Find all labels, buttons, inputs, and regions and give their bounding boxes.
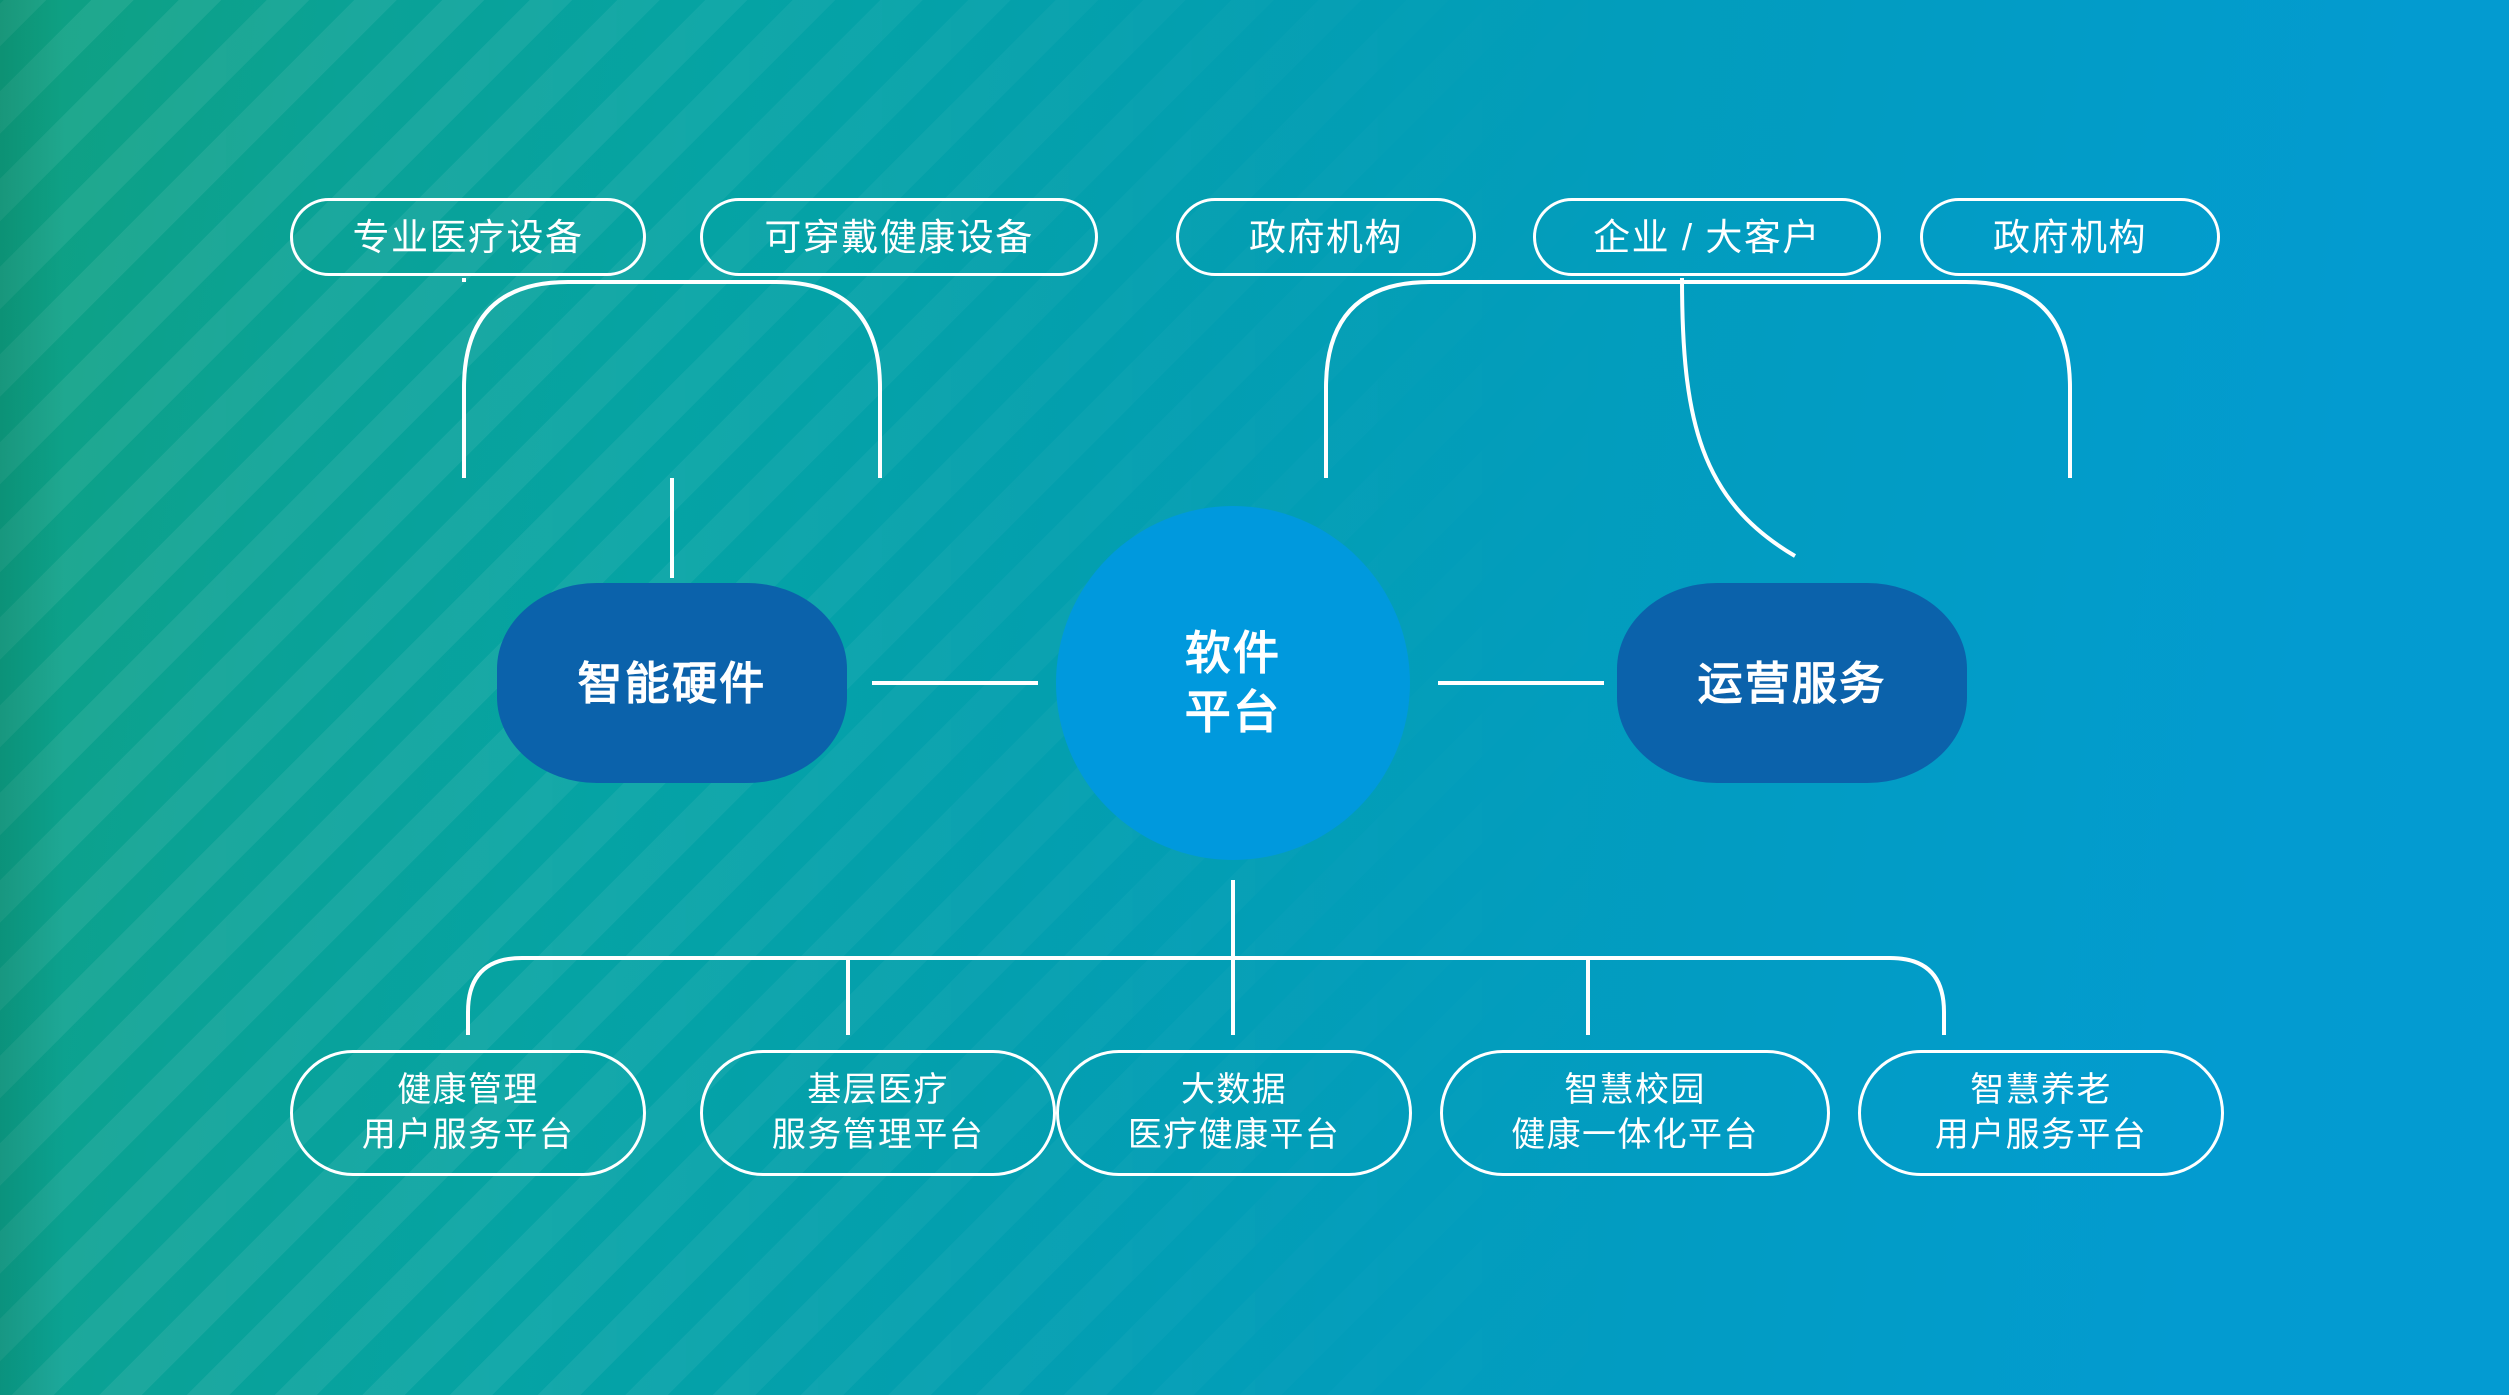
diagram-canvas: 专业医疗设备 可穿戴健康设备 政府机构 企业 / 大客户 政府机构 智能硬件 软… [0, 0, 2509, 1395]
pill-label: 专业医疗设备 [353, 219, 584, 256]
pill-enterprise-key-account[interactable]: 企业 / 大客户 [1533, 198, 1881, 276]
pill-bigdata-health-platform[interactable]: 大数据 医疗健康平台 [1056, 1050, 1412, 1176]
background-left-edge-shade [0, 0, 64, 1395]
pill-label-line-1: 智慧养老 [1970, 1068, 2111, 1113]
pill-gov-agency-1[interactable]: 政府机构 [1176, 198, 1476, 276]
pill-label: 政府机构 [1249, 219, 1403, 256]
pill-label: 企业 / 大客户 [1593, 219, 1821, 256]
pill-label-line-2: 医疗健康平台 [1128, 1113, 1340, 1158]
node-label: 智能硬件 [577, 661, 766, 706]
pill-label-line-1: 智慧校园 [1564, 1068, 1705, 1113]
pill-label: 政府机构 [1993, 219, 2147, 256]
pill-pro-medical-device[interactable]: 专业医疗设备 [290, 198, 646, 276]
pill-wearable-health-device[interactable]: 可穿戴健康设备 [700, 198, 1098, 276]
pill-gov-agency-2[interactable]: 政府机构 [1920, 198, 2220, 276]
pill-primary-care-service-platform[interactable]: 基层医疗 服务管理平台 [700, 1050, 1056, 1176]
pill-label-line-2: 用户服务平台 [1935, 1113, 2147, 1158]
node-smart-hardware[interactable]: 智能硬件 [497, 583, 847, 783]
node-label: 运营服务 [1697, 661, 1886, 706]
pill-label-line-1: 基层医疗 [807, 1068, 948, 1113]
pill-label-line-1: 大数据 [1181, 1068, 1287, 1113]
node-operation-service[interactable]: 运营服务 [1617, 583, 1967, 783]
node-label-line-1: 软件 [1185, 624, 1282, 683]
pill-smart-elderly-user-platform[interactable]: 智慧养老 用户服务平台 [1858, 1050, 2224, 1176]
pill-label: 可穿戴健康设备 [764, 219, 1033, 256]
pill-health-mgmt-user-platform[interactable]: 健康管理 用户服务平台 [290, 1050, 646, 1176]
pill-label-line-2: 服务管理平台 [772, 1113, 984, 1158]
pill-label-line-2: 健康一体化平台 [1511, 1113, 1759, 1158]
pill-label-line-1: 健康管理 [397, 1068, 538, 1113]
pill-label-line-2: 用户服务平台 [362, 1113, 574, 1158]
node-software-platform[interactable]: 软件 平台 [1056, 506, 1410, 860]
node-label-line-2: 平台 [1185, 683, 1282, 742]
pill-smart-campus-health-platform[interactable]: 智慧校园 健康一体化平台 [1440, 1050, 1830, 1176]
